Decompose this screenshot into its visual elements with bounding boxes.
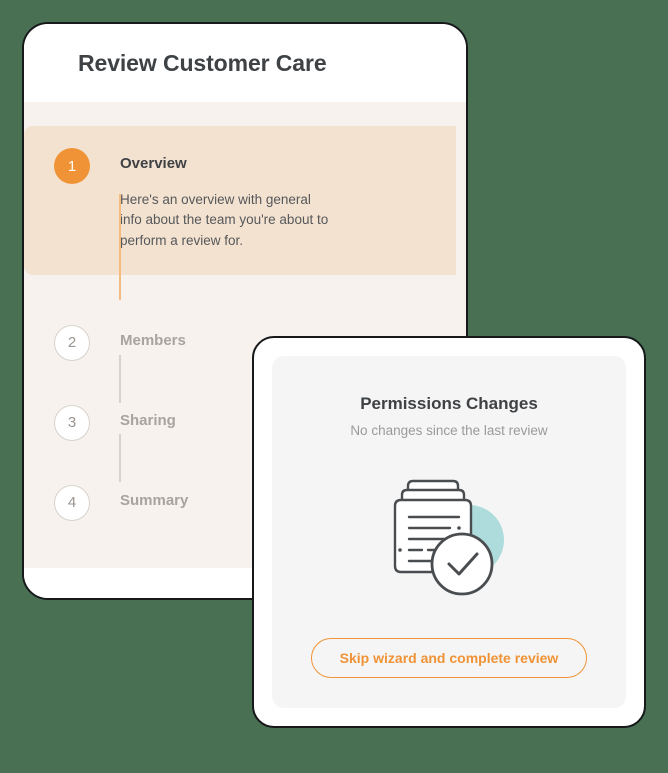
step-description: Here's an overview with general info abo… <box>120 190 335 251</box>
window-header: Review Customer Care <box>24 24 466 102</box>
step-connector-1-2 <box>119 194 121 300</box>
step-badge-column: 4 <box>24 485 120 521</box>
step-number-badge: 4 <box>54 485 90 521</box>
step-connector-3-4 <box>119 434 121 482</box>
step-label: Members <box>120 332 186 349</box>
step-content: Sharing <box>120 405 176 429</box>
step-content: Summary <box>120 485 188 509</box>
step-content: Members <box>120 325 186 349</box>
step-content: Overview Here's an overview with general… <box>120 148 335 251</box>
step-number-badge: 1 <box>54 148 90 184</box>
skip-wizard-button[interactable]: Skip wizard and complete review <box>311 638 588 678</box>
card-title: Permissions Changes <box>360 394 538 414</box>
step-label: Overview <box>120 155 335 172</box>
card-subtitle: No changes since the last review <box>350 423 547 438</box>
step-badge-column: 2 <box>24 325 120 361</box>
permissions-changes-card: Permissions Changes No changes since the… <box>252 336 646 728</box>
step-badge-column: 3 <box>24 405 120 441</box>
permissions-card-inner: Permissions Changes No changes since the… <box>272 356 626 708</box>
page-title: Review Customer Care <box>78 50 327 77</box>
step-badge-column: 1 <box>24 148 120 184</box>
document-dot-2 <box>398 548 402 552</box>
step-label: Sharing <box>120 412 176 429</box>
step-label: Summary <box>120 492 188 509</box>
step-number-badge: 2 <box>54 325 90 361</box>
step-number-badge: 3 <box>54 405 90 441</box>
step-connector-2-3 <box>119 355 121 403</box>
document-dot-1 <box>457 526 461 530</box>
check-circle <box>432 534 492 594</box>
illustration-svg <box>374 468 524 608</box>
documents-with-check-illustration <box>294 438 604 638</box>
sidebar-step-overview[interactable]: 1 Overview Here's an overview with gener… <box>24 126 456 275</box>
